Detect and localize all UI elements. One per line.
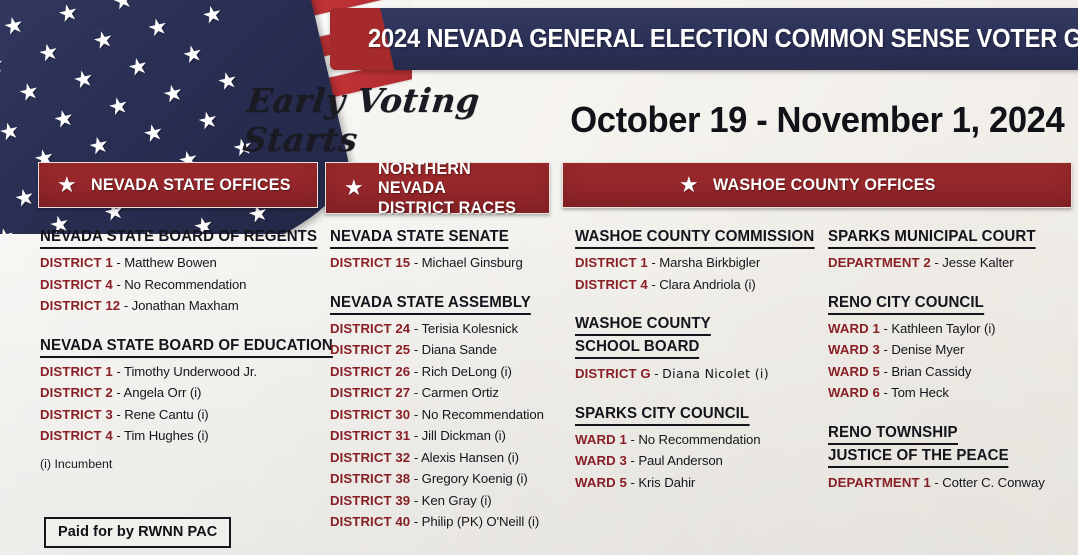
race-row: WARD 3 - Denise Myer <box>828 342 1078 357</box>
race-row: DISTRICT 32 - Alexis Hansen (i) <box>330 450 570 465</box>
race-candidate-name: No Recommendation <box>638 432 760 447</box>
race-separator: - <box>648 255 659 270</box>
race-district-label: DISTRICT 38 <box>330 471 410 486</box>
race-candidate-name: Terisia Kolesnick <box>421 321 518 336</box>
race-district-label: DISTRICT 12 <box>40 298 120 313</box>
race-separator: - <box>113 277 124 292</box>
star-icon: ★ <box>57 174 77 196</box>
race-separator: - <box>113 428 124 443</box>
race-row: DISTRICT 24 - Terisia Kolesnick <box>330 321 570 336</box>
race-separator: - <box>931 475 942 490</box>
race-row: DISTRICT 40 - Philip (PK) O'Neill (i) <box>330 514 570 529</box>
group-spacer <box>40 320 340 337</box>
section-header-northern-nevada-district-races: ★ NORTHERN NEVADA DISTRICT RACES <box>325 162 550 214</box>
race-row: DEPARTMENT 1 - Cotter C. Conway <box>828 475 1078 490</box>
race-district-label: DISTRICT 4 <box>40 277 113 292</box>
race-row: DISTRICT 39 - Ken Gray (i) <box>330 493 570 508</box>
race-candidate-name: Michael Ginsburg <box>422 255 523 270</box>
office-title: NEVADA STATE BOARD OF EDUCATION <box>40 337 333 358</box>
section-header-washoe-county-offices: ★ WASHOE COUNTY OFFICES <box>562 162 1072 208</box>
flag-star-icon: ★ <box>195 107 220 134</box>
office-title-line: WASHOE COUNTY <box>575 315 711 336</box>
race-row: DISTRICT 27 - Carmen Ortiz <box>330 385 570 400</box>
office-title-line: RENO TOWNSHIP <box>828 424 958 445</box>
race-candidate-name: Diana Nicolet (i) <box>662 366 769 381</box>
race-separator: - <box>410 514 421 529</box>
flag-star-icon: ★ <box>160 80 185 107</box>
race-candidate-name: Matthew Bowen <box>124 255 217 270</box>
flag-star-icon: ★ <box>56 0 81 27</box>
flag-star-icon: ★ <box>0 224 18 234</box>
race-row: DISTRICT G - Diana Nicolet (i) <box>575 366 825 381</box>
office-title: WASHOE COUNTYSCHOOL BOARD <box>575 315 711 360</box>
race-row: DISTRICT 38 - Gregory Koenig (i) <box>330 471 570 486</box>
race-district-label: DEPARTMENT 1 <box>828 475 931 490</box>
race-separator: - <box>880 364 891 379</box>
race-row: DISTRICT 26 - Rich DeLong (i) <box>330 364 570 379</box>
office-title: SPARKS CITY COUNCIL <box>575 405 749 426</box>
race-district-label: DISTRICT 3 <box>40 407 113 422</box>
race-district-label: WARD 5 <box>828 364 880 379</box>
race-separator: - <box>410 321 421 336</box>
race-row: WARD 3 - Paul Anderson <box>575 453 825 468</box>
race-candidate-name: Denise Myer <box>891 342 964 357</box>
race-row: DISTRICT 1 - Marsha Birkbigler <box>575 255 825 270</box>
flag-star-icon: ★ <box>141 120 166 147</box>
race-district-label: WARD 1 <box>575 432 627 447</box>
flag-star-icon: ★ <box>16 79 41 106</box>
race-candidate-name: Gregory Koenig (i) <box>422 471 528 486</box>
race-row: DISTRICT 1 - Timothy Underwood Jr. <box>40 364 340 379</box>
office-title-line: SCHOOL BOARD <box>575 338 700 359</box>
race-district-label: DISTRICT 40 <box>330 514 410 529</box>
flag-star-icon: ★ <box>12 184 37 211</box>
star-icon: ★ <box>344 177 364 199</box>
race-separator: - <box>410 255 421 270</box>
race-district-label: WARD 5 <box>575 475 627 490</box>
flag-star-icon: ★ <box>36 39 61 66</box>
race-separator: - <box>880 385 891 400</box>
office-title: SPARKS MUNICIPAL COURT <box>828 228 1036 249</box>
flag-star-icon: ★ <box>0 52 7 79</box>
guide-title-banner: 2024 NEVADA GENERAL ELECTION COMMON SENS… <box>330 8 1078 70</box>
office-title: NEVADA STATE BOARD OF REGENTS <box>40 228 317 249</box>
office-title: RENO CITY COUNCIL <box>828 294 984 315</box>
race-row: WARD 5 - Kris Dahir <box>575 475 825 490</box>
office-title: WASHOE COUNTY COMMISSION <box>575 228 814 249</box>
race-row: DEPARTMENT 2 - Jesse Kalter <box>828 255 1078 270</box>
race-separator: - <box>410 385 421 400</box>
group-spacer <box>330 277 570 294</box>
voter-guide-page: ★★★★★★★★★★★★★★★★★★★★★★★★★★★★★★★★★★★★★★★★… <box>0 0 1078 555</box>
column-nevada-state-offices: NEVADA STATE BOARD OF REGENTSDISTRICT 1 … <box>40 228 340 471</box>
race-separator: - <box>410 364 421 379</box>
race-separator: - <box>410 407 421 422</box>
race-candidate-name: Carmen Ortiz <box>422 385 499 400</box>
race-district-label: DISTRICT 32 <box>330 450 410 465</box>
section-header-label: WASHOE COUNTY OFFICES <box>713 175 936 194</box>
race-row: WARD 1 - Kathleen Taylor (i) <box>828 321 1078 336</box>
race-separator: - <box>113 385 124 400</box>
race-separator: - <box>410 428 421 443</box>
flag-star-icon: ★ <box>110 0 135 14</box>
early-voting-label: Early Voting Starts <box>241 81 547 159</box>
race-separator: - <box>113 407 124 422</box>
flag-star-icon: ★ <box>71 66 96 93</box>
flag-star-icon: ★ <box>1 12 26 39</box>
race-candidate-name: Angela Orr (i) <box>124 385 202 400</box>
flag-star-icon: ★ <box>165 0 190 2</box>
flag-star-icon: ★ <box>51 105 76 132</box>
race-candidate-name: Jonathan Maxham <box>132 298 239 313</box>
group-spacer <box>828 277 1078 294</box>
flag-star-icon: ★ <box>145 14 170 41</box>
race-separator: - <box>410 450 421 465</box>
race-candidate-name: Diana Sande <box>422 342 497 357</box>
race-candidate-name: No Recommendation <box>422 407 544 422</box>
race-district-label: WARD 1 <box>828 321 880 336</box>
race-row: DISTRICT 12 - Jonathan Maxham <box>40 298 340 313</box>
office-title-line: JUSTICE OF THE PEACE <box>828 447 1009 468</box>
race-candidate-name: Kathleen Taylor (i) <box>891 321 995 336</box>
race-district-label: DISTRICT 2 <box>40 385 113 400</box>
race-district-label: DISTRICT 27 <box>330 385 410 400</box>
column-washoe-county-left: WASHOE COUNTY COMMISSIONDISTRICT 1 - Mar… <box>575 228 825 496</box>
flag-star-icon: ★ <box>86 132 111 159</box>
race-row: DISTRICT 2 - Angela Orr (i) <box>40 385 340 400</box>
race-row: WARD 5 - Brian Cassidy <box>828 364 1078 379</box>
race-candidate-name: Rich DeLong (i) <box>422 364 512 379</box>
office-title: NEVADA STATE ASSEMBLY <box>330 294 531 315</box>
race-candidate-name: Timothy Underwood Jr. <box>124 364 257 379</box>
race-separator: - <box>410 342 421 357</box>
race-row: DISTRICT 4 - Tim Hughes (i) <box>40 428 340 443</box>
section-header-nevada-state-offices: ★ NEVADA STATE OFFICES <box>38 162 318 208</box>
flag-star-icon: ★ <box>0 118 22 145</box>
race-candidate-name: Tim Hughes (i) <box>124 428 209 443</box>
race-district-label: DISTRICT 31 <box>330 428 410 443</box>
flag-star-icon: ★ <box>125 53 150 80</box>
race-district-label: DISTRICT 1 <box>575 255 648 270</box>
race-row: DISTRICT 31 - Jill Dickman (i) <box>330 428 570 443</box>
flag-star-icon: ★ <box>215 68 240 95</box>
race-district-label: DISTRICT 39 <box>330 493 410 508</box>
flag-star-icon: ★ <box>0 157 2 184</box>
race-district-label: DISTRICT 15 <box>330 255 410 270</box>
race-separator: - <box>627 432 638 447</box>
flag-star-icon: ★ <box>200 1 225 28</box>
race-separator: - <box>113 364 124 379</box>
group-spacer <box>575 298 825 315</box>
office-title: RENO TOWNSHIPJUSTICE OF THE PEACE <box>828 424 1009 469</box>
race-candidate-name: Rene Cantu (i) <box>124 407 208 422</box>
race-row: DISTRICT 3 - Rene Cantu (i) <box>40 407 340 422</box>
race-row: DISTRICT 25 - Diana Sande <box>330 342 570 357</box>
race-district-label: DISTRICT 1 <box>40 364 113 379</box>
race-candidate-name: Clara Andriola (i) <box>659 277 755 292</box>
race-candidate-name: Jesse Kalter <box>942 255 1013 270</box>
race-district-label: DISTRICT 24 <box>330 321 410 336</box>
paid-for-by-disclaimer: Paid for by RWNN PAC <box>44 517 231 548</box>
race-separator: - <box>931 255 942 270</box>
race-district-label: WARD 6 <box>828 385 880 400</box>
race-candidate-name: Paul Anderson <box>638 453 722 468</box>
race-row: DISTRICT 1 - Matthew Bowen <box>40 255 340 270</box>
flag-star-icon: ★ <box>106 93 131 120</box>
race-separator: - <box>627 453 638 468</box>
race-district-label: DISTRICT G <box>575 366 651 381</box>
race-separator: - <box>627 475 638 490</box>
race-district-label: DISTRICT 1 <box>40 255 113 270</box>
race-candidate-name: Brian Cassidy <box>891 364 971 379</box>
race-candidate-name: No Recommendation <box>124 277 246 292</box>
race-district-label: DISTRICT 30 <box>330 407 410 422</box>
column-washoe-county-right: SPARKS MUNICIPAL COURTDEPARTMENT 2 - Jes… <box>828 228 1078 496</box>
race-candidate-name: Philip (PK) O'Neill (i) <box>422 514 539 529</box>
flag-star-icon: ★ <box>180 41 205 68</box>
race-candidate-name: Marsha Birkbigler <box>659 255 760 270</box>
flag-star-icon: ★ <box>91 27 116 54</box>
section-header-label: NEVADA STATE OFFICES <box>91 175 291 194</box>
race-row: DISTRICT 15 - Michael Ginsburg <box>330 255 570 270</box>
race-separator: - <box>648 277 659 292</box>
race-row: DISTRICT 30 - No Recommendation <box>330 407 570 422</box>
guide-title: 2024 NEVADA GENERAL ELECTION COMMON SENS… <box>368 25 1078 54</box>
group-spacer <box>828 407 1078 424</box>
section-header-label: NORTHERN NEVADA DISTRICT RACES <box>378 159 541 216</box>
column-northern-nevada-district-races: NEVADA STATE SENATEDISTRICT 15 - Michael… <box>330 228 570 536</box>
race-separator: - <box>880 342 891 357</box>
race-candidate-name: Ken Gray (i) <box>422 493 492 508</box>
race-candidate-name: Cotter C. Conway <box>942 475 1044 490</box>
race-district-label: DISTRICT 25 <box>330 342 410 357</box>
race-district-label: WARD 3 <box>828 342 880 357</box>
race-row: WARD 6 - Tom Heck <box>828 385 1078 400</box>
race-candidate-name: Kris Dahir <box>638 475 695 490</box>
race-candidate-name: Alexis Hansen (i) <box>421 450 519 465</box>
race-row: WARD 1 - No Recommendation <box>575 432 825 447</box>
race-separator: - <box>120 298 131 313</box>
race-candidate-name: Jill Dickman (i) <box>422 428 506 443</box>
race-candidate-name: Tom Heck <box>891 385 949 400</box>
early-voting-dates: October 19 - November 1, 2024 <box>571 99 1065 141</box>
star-icon: ★ <box>679 174 699 196</box>
race-separator: - <box>410 471 421 486</box>
race-district-label: DISTRICT 4 <box>40 428 113 443</box>
early-voting-row: Early Voting Starts October 19 - Novembe… <box>245 92 1075 148</box>
race-row: DISTRICT 4 - No Recommendation <box>40 277 340 292</box>
race-separator: - <box>880 321 891 336</box>
incumbent-footnote: (i) Incumbent <box>40 457 340 471</box>
race-district-label: WARD 3 <box>575 453 627 468</box>
race-separator: - <box>651 366 662 381</box>
race-separator: - <box>410 493 421 508</box>
race-district-label: DEPARTMENT 2 <box>828 255 931 270</box>
office-title: NEVADA STATE SENATE <box>330 228 509 249</box>
race-district-label: DISTRICT 4 <box>575 277 648 292</box>
race-separator: - <box>113 255 124 270</box>
race-district-label: DISTRICT 26 <box>330 364 410 379</box>
group-spacer <box>575 388 825 405</box>
race-row: DISTRICT 4 - Clara Andriola (i) <box>575 277 825 292</box>
